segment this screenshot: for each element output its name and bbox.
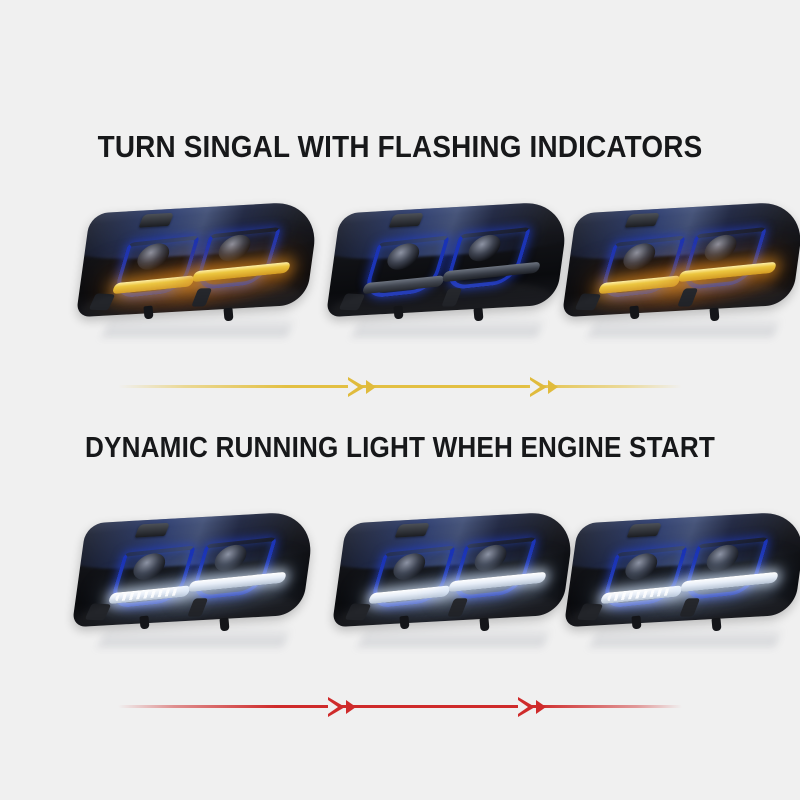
adjuster-leg-left bbox=[631, 616, 641, 630]
headlight-ground-reflection bbox=[590, 623, 784, 647]
headlight-housing bbox=[326, 201, 570, 318]
headlight-housing bbox=[564, 511, 800, 628]
chevron-right-icon bbox=[328, 697, 345, 717]
headlight-housing bbox=[332, 511, 576, 628]
headlight-housing bbox=[76, 201, 320, 318]
turn-signal-heading: TURN SINGAL WITH FLASHING INDICATORS bbox=[40, 129, 760, 165]
mounting-ear-left bbox=[339, 293, 366, 310]
turn-signal-progress-arrow bbox=[118, 370, 682, 404]
chevron-group-1 bbox=[328, 690, 374, 724]
mounting-tab bbox=[135, 523, 170, 538]
mounting-tab bbox=[627, 523, 662, 538]
chevron-right-icon bbox=[366, 380, 376, 394]
mounting-tab bbox=[625, 213, 660, 228]
headlight-drl-frame-2 bbox=[328, 505, 583, 655]
mounting-ear-right bbox=[677, 288, 698, 306]
arrow-line bbox=[118, 705, 682, 708]
mounting-ear-right bbox=[441, 288, 462, 306]
running-light-progress-arrow bbox=[118, 690, 682, 724]
chevron-group-1 bbox=[348, 370, 394, 404]
adjuster-leg-right bbox=[479, 618, 489, 632]
mounting-tab bbox=[139, 213, 174, 228]
adjuster-leg-right bbox=[711, 618, 721, 632]
chevron-right-icon bbox=[518, 697, 535, 717]
adjuster-leg-left bbox=[139, 616, 149, 630]
adjuster-leg-left bbox=[393, 306, 403, 320]
chevron-right-icon bbox=[536, 700, 546, 714]
mounting-ear-left bbox=[575, 293, 602, 310]
running-light-heading: DYNAMIC RUNNING LIGHT WHEH ENGINE START bbox=[40, 432, 760, 465]
headlight-ground-reflection bbox=[98, 623, 292, 647]
product-feature-graphic: TURN SINGAL WITH FLASHING INDICATORS bbox=[0, 0, 800, 800]
mounting-ear-right bbox=[191, 288, 212, 306]
chevron-group-2 bbox=[518, 690, 564, 724]
headlight-housing bbox=[72, 511, 316, 628]
chevron-right-icon bbox=[348, 377, 365, 397]
headlight-turn-signal-frame-1 bbox=[72, 195, 327, 345]
mounting-ear-right bbox=[447, 598, 468, 616]
mounting-ear-left bbox=[85, 603, 112, 620]
headlight-drl-frame-3 bbox=[560, 505, 800, 655]
headlight-ground-reflection bbox=[102, 313, 296, 337]
headlight-turn-signal-frame-3 bbox=[558, 195, 800, 345]
headlight-ground-reflection bbox=[352, 313, 546, 337]
chevron-group-2 bbox=[530, 370, 576, 404]
mounting-ear-right bbox=[187, 598, 208, 616]
chevron-right-icon bbox=[548, 380, 558, 394]
mounting-ear-left bbox=[345, 603, 372, 620]
turn-signal-headlight-row bbox=[0, 195, 800, 345]
chevron-right-icon bbox=[530, 377, 547, 397]
headlight-drl-frame-1 bbox=[68, 505, 323, 655]
headlight-housing bbox=[562, 201, 800, 318]
headlight-ground-reflection bbox=[588, 313, 782, 337]
adjuster-leg-right bbox=[219, 618, 229, 632]
adjuster-leg-left bbox=[143, 306, 153, 320]
mounting-ear-right bbox=[679, 598, 700, 616]
adjuster-leg-right bbox=[709, 308, 719, 322]
mounting-tab bbox=[389, 213, 424, 228]
adjuster-leg-right bbox=[473, 308, 483, 322]
mounting-tab bbox=[395, 523, 430, 538]
mounting-ear-left bbox=[577, 603, 604, 620]
chevron-right-icon bbox=[346, 700, 356, 714]
mounting-ear-left bbox=[89, 293, 116, 310]
adjuster-leg-left bbox=[399, 616, 409, 630]
arrow-line bbox=[118, 385, 682, 388]
adjuster-leg-right bbox=[223, 308, 233, 322]
headlight-ground-reflection bbox=[358, 623, 552, 647]
headlight-turn-signal-frame-2 bbox=[322, 195, 577, 345]
running-light-headlight-row bbox=[0, 505, 800, 655]
adjuster-leg-left bbox=[629, 306, 639, 320]
